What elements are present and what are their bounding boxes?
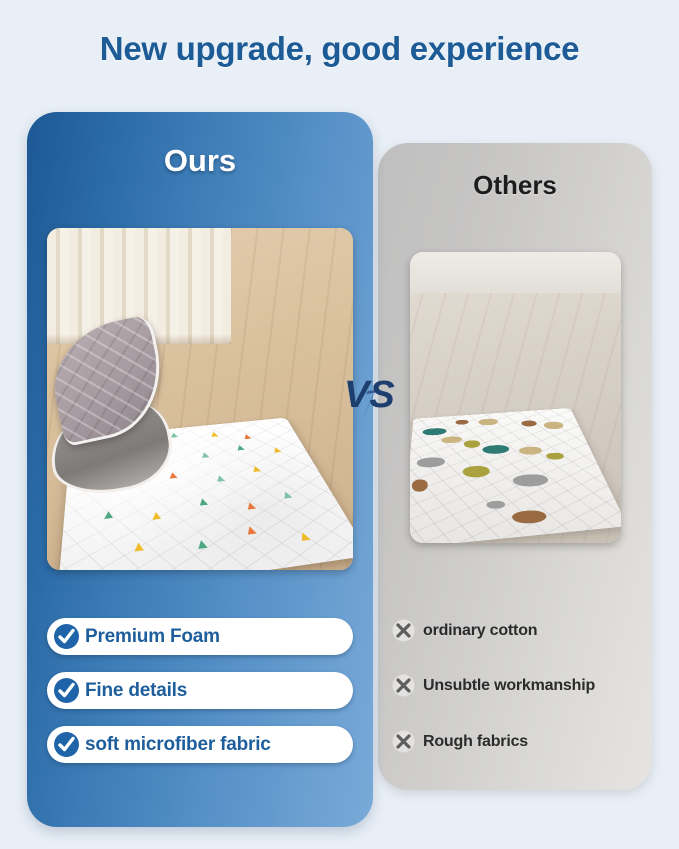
others-panel: Others [378, 143, 652, 790]
check-circle-icon [53, 623, 80, 650]
feature-item-fine-details: Fine details [47, 672, 353, 709]
comparison-section: Ours [0, 0, 679, 849]
drawback-label: Rough fabrics [423, 733, 528, 751]
wall-backdrop [410, 252, 621, 293]
x-circle-icon [392, 674, 415, 697]
check-circle-icon [53, 677, 80, 704]
ours-heading: Ours [27, 143, 373, 179]
feature-item-soft-microfiber-fabric: soft microfiber fabric [47, 726, 353, 763]
feature-label: Premium Foam [85, 626, 220, 648]
drawback-label: Unsubtle workmanship [423, 677, 595, 695]
others-heading: Others [378, 170, 652, 201]
others-product-photo [410, 252, 621, 543]
feature-item-premium-foam: Premium Foam [47, 618, 353, 655]
ours-product-photo [47, 228, 353, 570]
feature-label: soft microfiber fabric [85, 734, 271, 756]
x-circle-icon [392, 730, 415, 753]
check-circle-icon [53, 731, 80, 758]
ours-panel: Ours [27, 112, 373, 827]
drawback-item-unsubtle-workmanship: Unsubtle workmanship [392, 674, 595, 697]
drawback-item-rough-fabrics: Rough fabrics [392, 730, 528, 753]
x-circle-icon [392, 619, 415, 642]
drawback-label: ordinary cotton [423, 622, 537, 640]
feature-label: Fine details [85, 680, 187, 702]
drawback-item-ordinary-cotton: ordinary cotton [392, 619, 537, 642]
